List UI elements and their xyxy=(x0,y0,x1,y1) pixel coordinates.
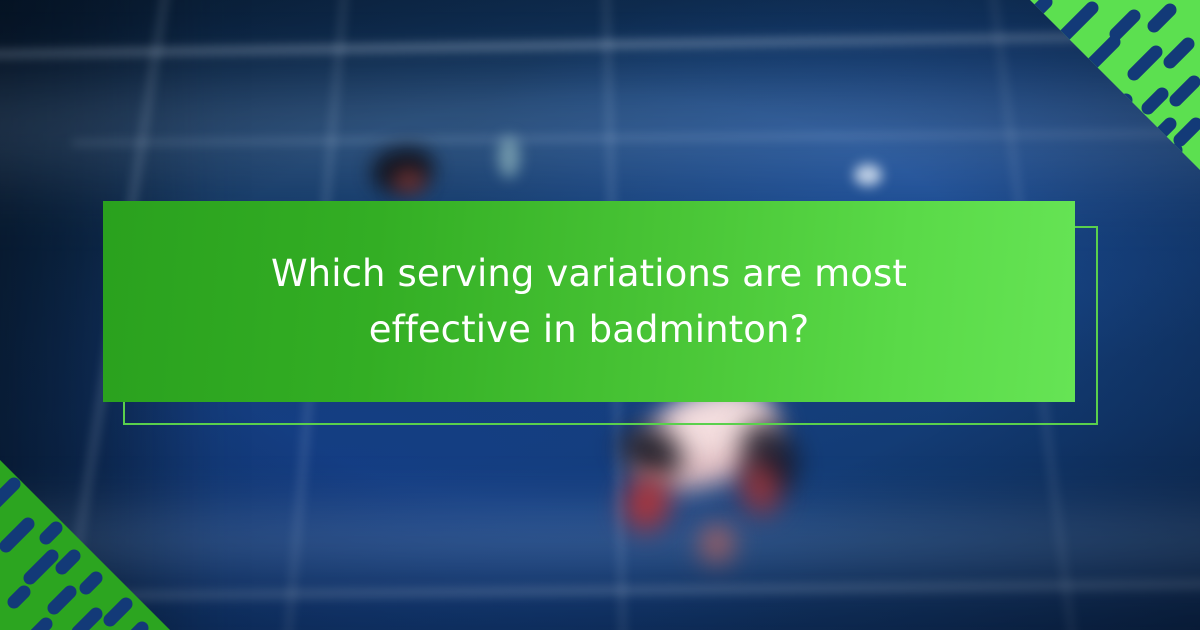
headline-banner: Which serving variations are most effect… xyxy=(103,201,1075,402)
dashed-diagonal-icon xyxy=(1030,0,1200,170)
headline-text: Which serving variations are most effect… xyxy=(194,246,984,358)
dashed-diagonal-icon xyxy=(0,460,170,630)
corner-decoration-bottom-left xyxy=(0,460,170,630)
corner-decoration-top-right xyxy=(1030,0,1200,170)
question-card: Which serving variations are most effect… xyxy=(0,0,1200,630)
